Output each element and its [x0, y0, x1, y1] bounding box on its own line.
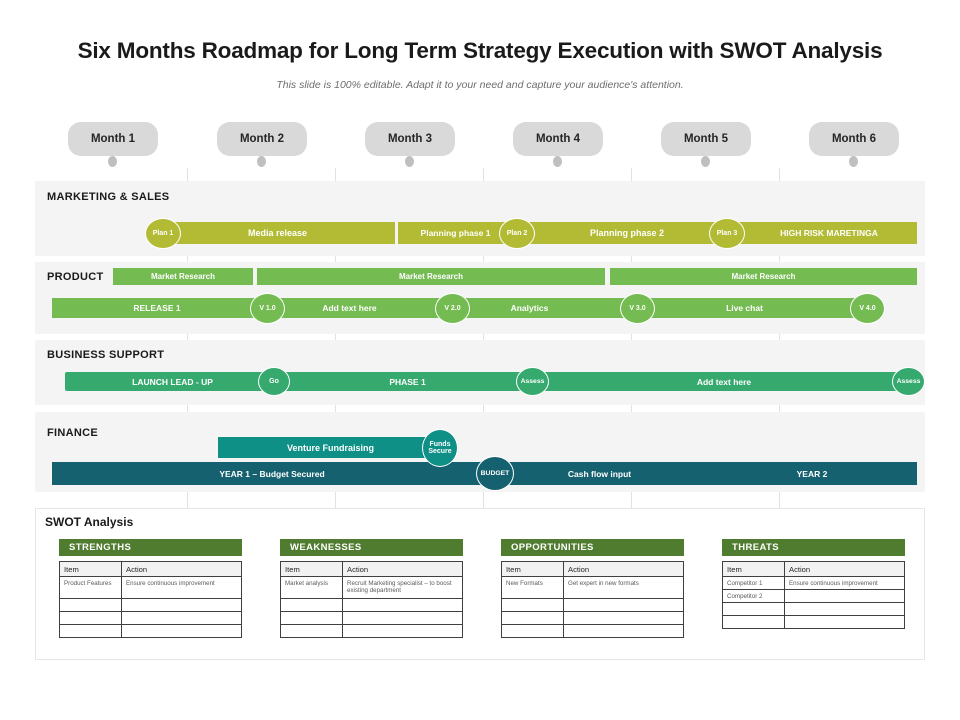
milestone-label: V 1.0 [259, 305, 275, 312]
bar-add-text-here[interactable]: Add text here [262, 298, 437, 318]
month-label: Month 3 [388, 133, 432, 145]
bar-live-chat[interactable]: Live chat [622, 298, 867, 318]
cell-action [122, 599, 242, 612]
milestone-plan-3[interactable]: Plan 3 [709, 218, 745, 249]
swot-card-opportunities: OPPORTUNITIES Item Action New Formats Ge… [501, 539, 684, 638]
table-header-row: Item Action [60, 562, 242, 577]
milestone-plan-2[interactable]: Plan 2 [499, 218, 535, 249]
table-row[interactable] [60, 612, 242, 625]
bar-label: YEAR 2 [797, 469, 828, 479]
swot-table[interactable]: Item Action Competitor 1 Ensure continuo… [722, 561, 905, 629]
bar-label: Add text here [697, 377, 751, 387]
month-pill-4[interactable]: Month 4 [513, 122, 603, 156]
table-row[interactable] [281, 612, 463, 625]
swot-card-header: STRENGTHS [59, 539, 242, 556]
month-dot-3 [405, 156, 414, 167]
table-row[interactable]: Competitor 1 Ensure continuous improveme… [723, 577, 905, 590]
bar-market-research-2[interactable]: Market Research [257, 268, 605, 285]
milestone-label: V 4.0 [859, 305, 875, 312]
milestone-label: Plan 3 [717, 230, 738, 237]
month-dot-1 [108, 156, 117, 167]
milestone-label: Plan 1 [153, 230, 174, 237]
bar-label: PHASE 1 [389, 377, 425, 387]
cell-action: Ensure continuous improvement [122, 577, 242, 599]
milestone-v3-0[interactable]: V 3.0 [620, 293, 655, 324]
swot-card-header: OPPORTUNITIES [501, 539, 684, 556]
milestone-assess-2[interactable]: Assess [892, 367, 925, 396]
bar-label: Cash flow input [568, 469, 631, 479]
bar-phase-1[interactable]: PHASE 1 [280, 372, 535, 391]
column-header-action: Action [122, 562, 242, 577]
swot-card-strengths: STRENGTHS Item Action Product Features E… [59, 539, 242, 638]
column-header-item: Item [502, 562, 564, 577]
table-row[interactable] [281, 625, 463, 638]
bar-year-2[interactable]: YEAR 2 [707, 462, 917, 485]
month-label: Month 4 [536, 133, 580, 145]
cell-item [281, 599, 343, 612]
table-row[interactable] [502, 625, 684, 638]
bar-label: Planning phase 1 [421, 228, 491, 238]
cell-item [281, 625, 343, 638]
swot-card-title: STRENGTHS [69, 542, 131, 553]
section-label-marketing: MARKETING & SALES [47, 191, 169, 203]
bar-label: Analytics [511, 303, 549, 313]
month-label: Month 2 [240, 133, 284, 145]
cell-action [343, 625, 463, 638]
table-row[interactable]: New Formats Get expert in new formats [502, 577, 684, 599]
bar-launch-lead-up[interactable]: LAUNCH LEAD - UP [65, 372, 280, 391]
month-label: Month 1 [91, 133, 135, 145]
table-header-row: Item Action [281, 562, 463, 577]
cell-action [785, 616, 905, 629]
milestone-plan-1[interactable]: Plan 1 [145, 218, 181, 249]
column-header-item: Item [281, 562, 343, 577]
cell-item [60, 612, 122, 625]
table-row[interactable] [60, 599, 242, 612]
cell-item: Product Features [60, 577, 122, 599]
month-pill-2[interactable]: Month 2 [217, 122, 307, 156]
cell-action: Recruit Marketing specialist – to boost … [343, 577, 463, 599]
table-row[interactable] [723, 603, 905, 616]
cell-action [785, 603, 905, 616]
milestone-label: V 3.0 [629, 305, 645, 312]
bar-planning-phase-1[interactable]: Planning phase 1 [398, 222, 513, 244]
milestone-v4-0[interactable]: V 4.0 [850, 293, 885, 324]
milestone-label: BUDGET [481, 470, 510, 477]
bar-market-research-1[interactable]: Market Research [113, 268, 253, 285]
swot-table[interactable]: Item Action Product Features Ensure cont… [59, 561, 242, 638]
swot-card-title: OPPORTUNITIES [511, 542, 594, 553]
month-pill-5[interactable]: Month 5 [661, 122, 751, 156]
cell-action [343, 612, 463, 625]
cell-action: Ensure continuous improvement [785, 577, 905, 590]
column-header-item: Item [60, 562, 122, 577]
swot-card-title: WEAKNESSES [290, 542, 362, 553]
bar-release-1[interactable]: RELEASE 1 [52, 298, 262, 318]
bar-label: YEAR 1 – Budget Secured [219, 469, 324, 479]
cell-item [60, 625, 122, 638]
swot-table[interactable]: Item Action New Formats Get expert in ne… [501, 561, 684, 638]
cell-action [564, 625, 684, 638]
cell-action [785, 590, 905, 603]
table-row[interactable]: Market analysis Recruit Marketing specia… [281, 577, 463, 599]
column-header-action: Action [343, 562, 463, 577]
milestone-assess-1[interactable]: Assess [516, 367, 549, 396]
milestone-v2-0[interactable]: V 2.0 [435, 293, 470, 324]
month-dot-2 [257, 156, 266, 167]
table-header-row: Item Action [502, 562, 684, 577]
table-row[interactable] [60, 625, 242, 638]
milestone-label: Go [269, 378, 279, 385]
bar-planning-phase-2[interactable]: Planning phase 2 [513, 222, 741, 244]
swot-table[interactable]: Item Action Market analysis Recruit Mark… [280, 561, 463, 638]
bar-label: Venture Fundraising [287, 443, 374, 453]
milestone-funds-secure[interactable]: Funds Secure [422, 429, 458, 467]
milestone-label: Plan 2 [507, 230, 528, 237]
bar-label: RELEASE 1 [133, 303, 180, 313]
cell-item [723, 616, 785, 629]
cell-action [343, 599, 463, 612]
cell-item [502, 612, 564, 625]
section-label-business: BUSINESS SUPPORT [47, 349, 164, 361]
bar-label: Media release [248, 228, 307, 238]
roadmap-slide: Six Months Roadmap for Long Term Strateg… [0, 0, 960, 720]
cell-action [122, 625, 242, 638]
month-dot-6 [849, 156, 858, 167]
bar-business-add-text[interactable]: Add text here [535, 372, 913, 391]
cell-item: Market analysis [281, 577, 343, 599]
swot-card-header: WEAKNESSES [280, 539, 463, 556]
table-header-row: Item Action [723, 562, 905, 577]
table-row[interactable]: Product Features Ensure continuous impro… [60, 577, 242, 599]
cell-item [281, 612, 343, 625]
bar-label: Market Research [731, 272, 795, 281]
swot-title: SWOT Analysis [45, 515, 133, 529]
bar-label: Live chat [726, 303, 763, 313]
page-subtitle: This slide is 100% editable. Adapt it to… [0, 79, 960, 91]
cell-item: New Formats [502, 577, 564, 599]
cell-action [122, 612, 242, 625]
bar-cash-flow-input[interactable]: Cash flow input [492, 462, 707, 485]
milestone-label: Funds Secure [428, 441, 451, 456]
month-label: Month 6 [832, 133, 876, 145]
cell-item [723, 603, 785, 616]
milestone-label: Assess [521, 378, 545, 385]
milestone-label: V 2.0 [444, 305, 460, 312]
cell-item [502, 625, 564, 638]
month-dot-4 [553, 156, 562, 167]
milestone-v1-0[interactable]: V 1.0 [250, 293, 285, 324]
month-pill-1[interactable]: Month 1 [68, 122, 158, 156]
bar-label: LAUNCH LEAD - UP [132, 377, 213, 387]
swot-card-title: THREATS [732, 542, 779, 553]
month-dot-5 [701, 156, 710, 167]
bar-label: Add text here [322, 303, 376, 313]
month-pill-3[interactable]: Month 3 [365, 122, 455, 156]
cell-action: Get expert in new formats [564, 577, 684, 599]
bar-label: Market Research [399, 272, 463, 281]
table-row[interactable]: Competitor 2 [723, 590, 905, 603]
column-header-item: Item [723, 562, 785, 577]
cell-item: Competitor 1 [723, 577, 785, 590]
column-header-action: Action [785, 562, 905, 577]
table-row[interactable] [281, 599, 463, 612]
section-label-product: PRODUCT [47, 271, 104, 283]
swot-card-threats: THREATS Item Action Competitor 1 Ensure … [722, 539, 905, 629]
table-row[interactable] [502, 612, 684, 625]
cell-item [60, 599, 122, 612]
swot-card-header: THREATS [722, 539, 905, 556]
cell-item: Competitor 2 [723, 590, 785, 603]
month-pill-6[interactable]: Month 6 [809, 122, 899, 156]
bar-year-1-budget-secured[interactable]: YEAR 1 – Budget Secured [52, 462, 492, 485]
month-label: Month 5 [684, 133, 728, 145]
table-row[interactable] [723, 616, 905, 629]
section-label-finance: FINANCE [47, 427, 98, 439]
bar-market-research-3[interactable]: Market Research [610, 268, 917, 285]
milestone-go[interactable]: Go [258, 367, 290, 396]
cell-action [564, 612, 684, 625]
column-header-action: Action [564, 562, 684, 577]
bar-media-release[interactable]: Media release [160, 222, 395, 244]
table-row[interactable] [502, 599, 684, 612]
bar-label: Planning phase 2 [590, 228, 664, 238]
swot-card-weaknesses: WEAKNESSES Item Action Market analysis R… [280, 539, 463, 638]
bar-high-risk-maretinga[interactable]: HIGH RISK MARETINGA [741, 222, 917, 244]
bar-label: Market Research [151, 272, 215, 281]
bar-venture-fundraising[interactable]: Venture Fundraising [218, 437, 443, 458]
bar-label: HIGH RISK MARETINGA [780, 228, 878, 238]
cell-item [502, 599, 564, 612]
milestone-label: Assess [897, 378, 921, 385]
milestone-budget[interactable]: BUDGET [476, 456, 514, 491]
page-title: Six Months Roadmap for Long Term Strateg… [0, 38, 960, 64]
cell-action [564, 599, 684, 612]
